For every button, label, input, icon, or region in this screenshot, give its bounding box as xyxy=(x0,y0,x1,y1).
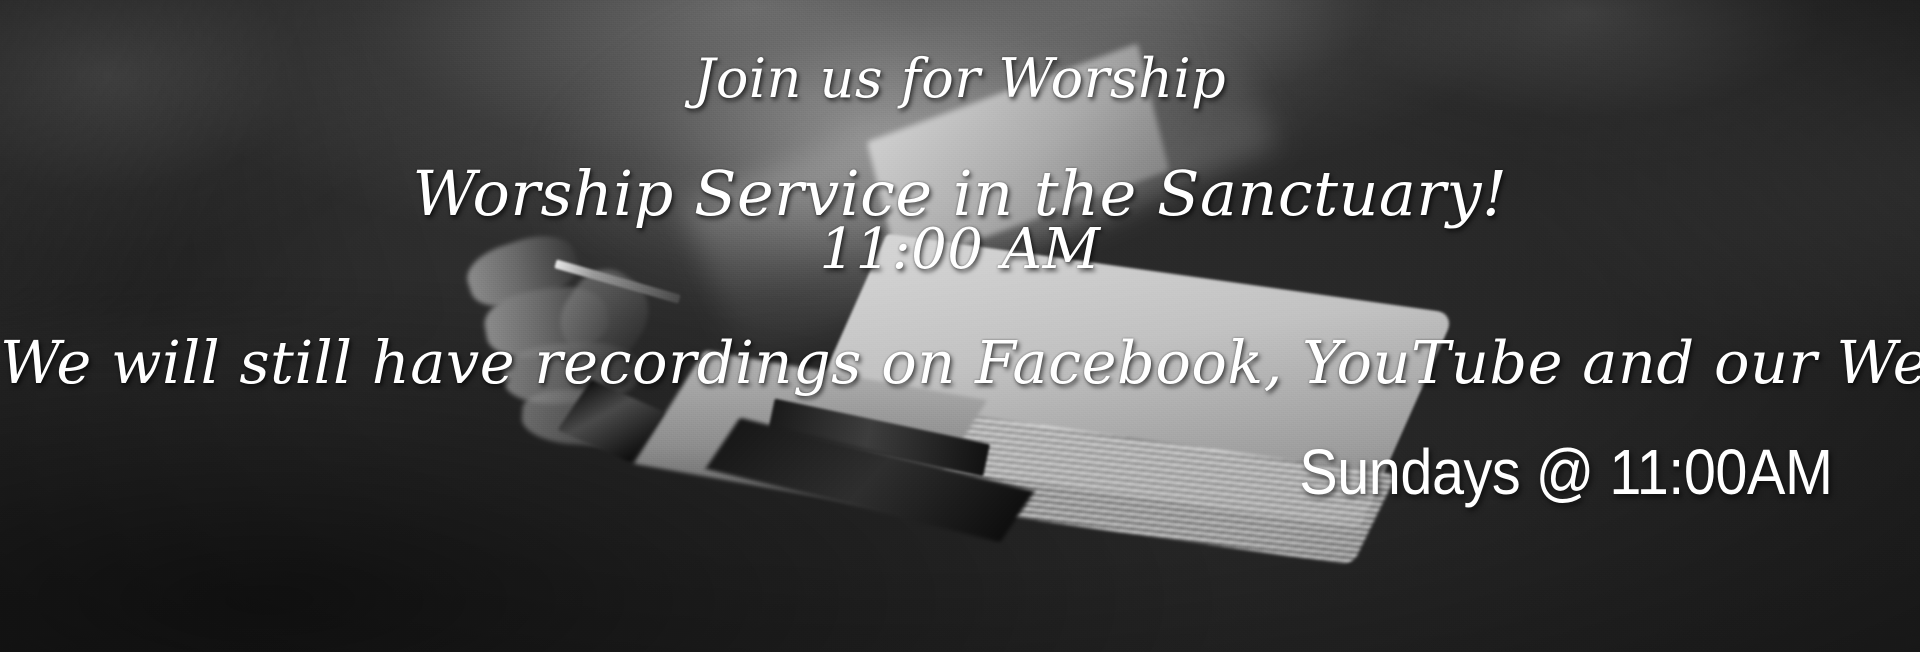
worship-banner: Join us for Worship Worship Service in t… xyxy=(0,0,1920,652)
service-time-heading: 11:00 AM xyxy=(0,222,1920,278)
service-location-heading: Worship Service in the Sanctuary! xyxy=(0,163,1920,225)
schedule-text: Sundays @ 11:00AM xyxy=(1299,440,1832,504)
text-layer: Join us for Worship Worship Service in t… xyxy=(0,0,1920,652)
invitation-heading: Join us for Worship xyxy=(0,52,1920,106)
streaming-note-text: We will still have recordings on Faceboo… xyxy=(0,333,1920,392)
